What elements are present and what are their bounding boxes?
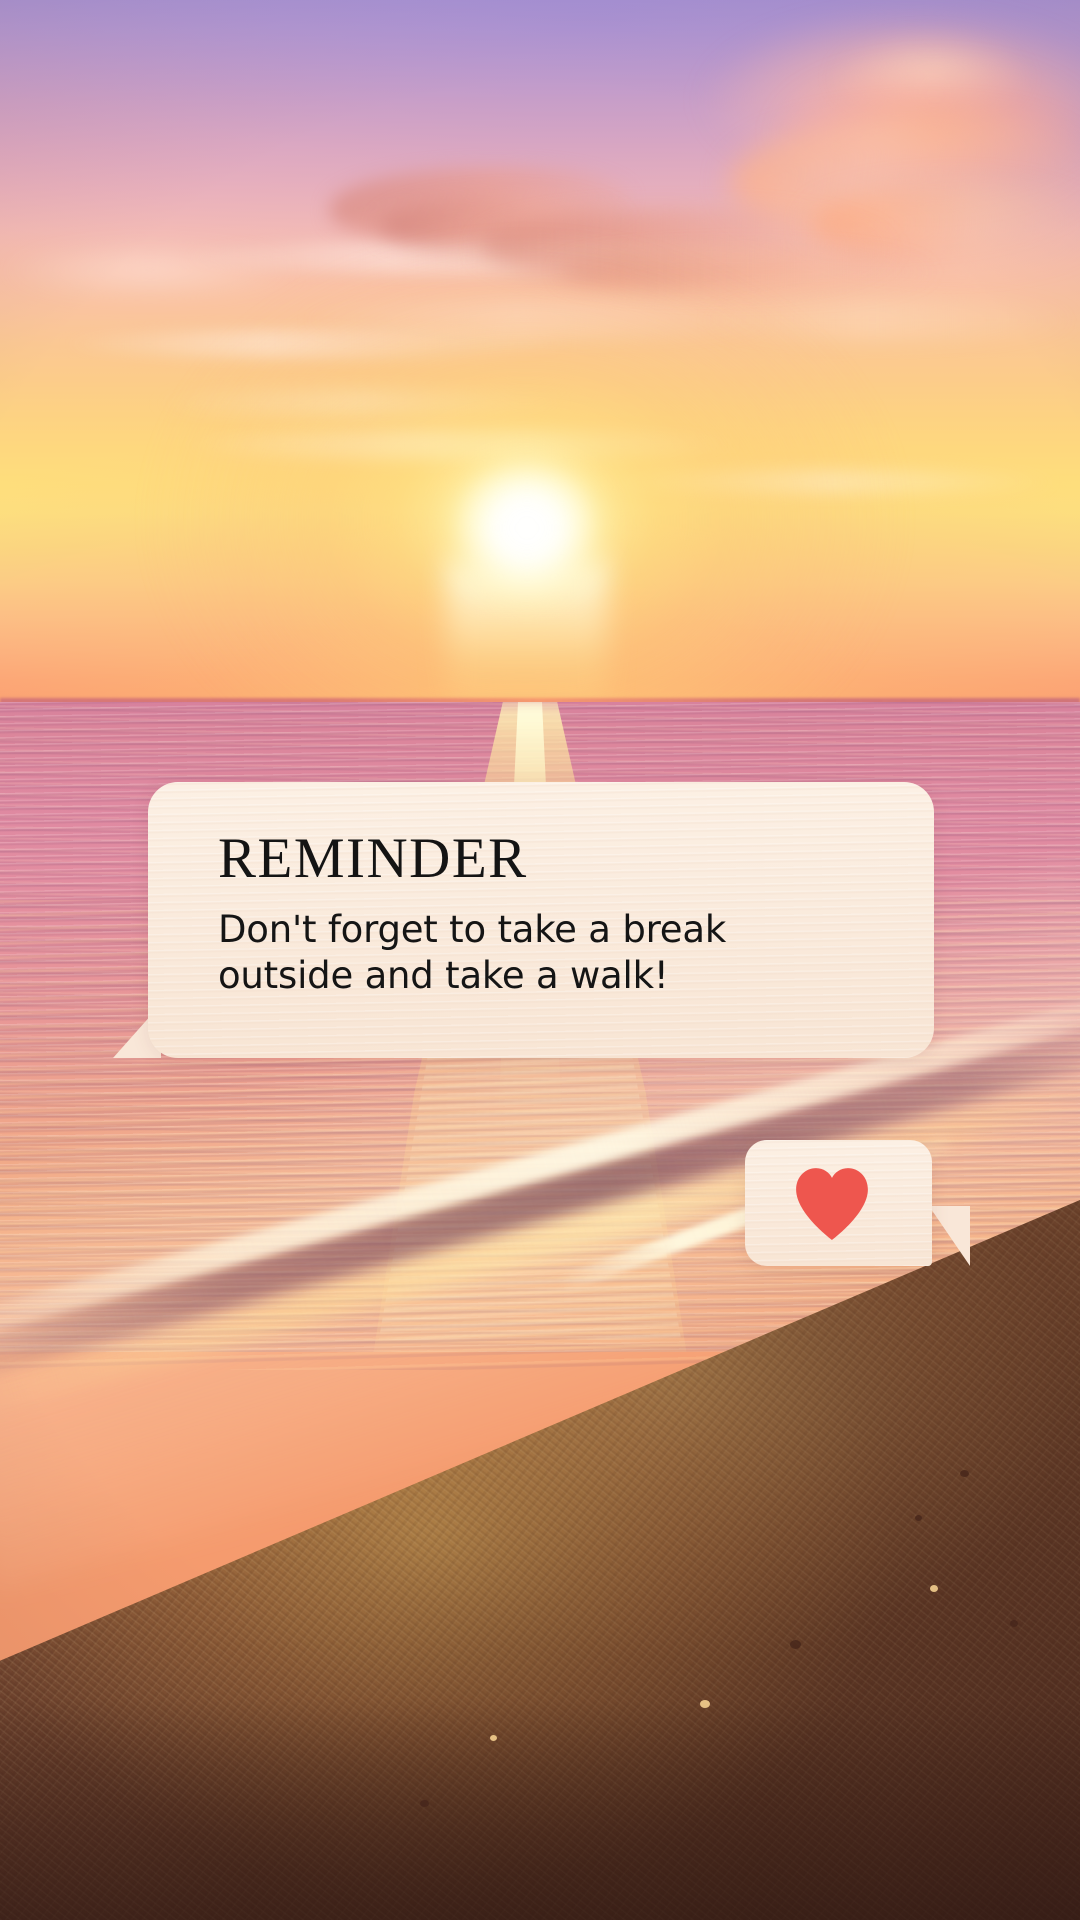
reminder-title: REMINDER: [218, 830, 894, 887]
pebble: [490, 1735, 497, 1741]
pebble: [960, 1470, 969, 1477]
pebble: [420, 1800, 429, 1807]
pebble: [790, 1640, 801, 1649]
pebble: [700, 1700, 710, 1708]
pebble: [930, 1585, 938, 1592]
reminder-body-text: Don't forget to take a break outside and…: [218, 907, 788, 999]
reminder-card-content: REMINDER Don't forget to take a break ou…: [148, 782, 934, 1058]
pebble: [915, 1515, 922, 1521]
sun-icon: [432, 438, 622, 618]
wallpaper-canvas: REMINDER Don't forget to take a break ou…: [0, 0, 1080, 1920]
pebble: [1010, 1620, 1018, 1627]
heart-bubble-tail: [929, 1206, 970, 1266]
sand-shadow-bottom: [0, 1700, 1080, 1920]
heart-icon[interactable]: [793, 1168, 871, 1240]
reminder-card[interactable]: REMINDER Don't forget to take a break ou…: [148, 782, 934, 1058]
